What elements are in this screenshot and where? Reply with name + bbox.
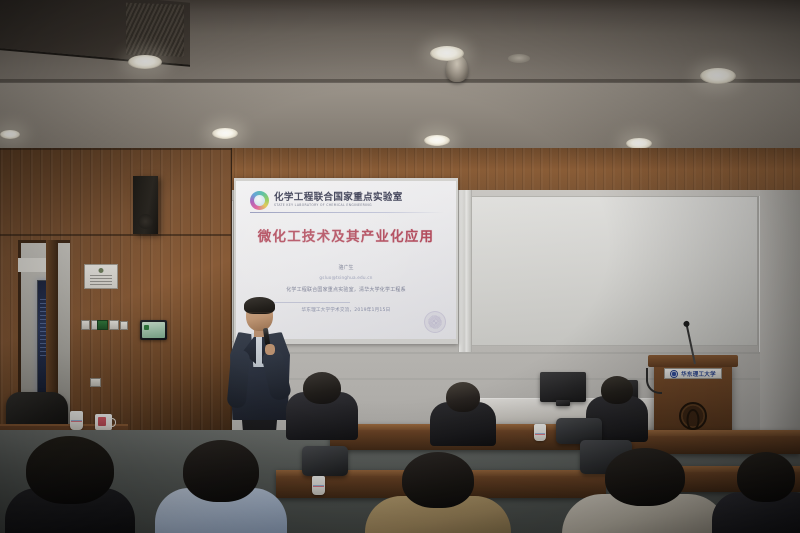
downlight-icon (212, 128, 238, 139)
attendee (570, 448, 720, 533)
handheld-microphone-icon (263, 328, 270, 346)
paper-cup (312, 476, 325, 495)
ceramic-mug (95, 414, 112, 430)
downlight-icon (0, 130, 20, 139)
slide-header: 化学工程联合国家重点实验室 STATE KEY LABORATORY OF CH… (250, 189, 446, 211)
slide-divider (250, 212, 444, 213)
attendee (286, 372, 358, 434)
panel-seam (0, 234, 231, 236)
attendee-head (737, 452, 795, 502)
downlight-icon (700, 68, 736, 84)
university-crest-icon (670, 370, 678, 378)
whiteboard-divider (458, 190, 472, 352)
touch-panel-screen[interactable] (142, 322, 165, 338)
light-switch[interactable] (81, 320, 90, 330)
downlight-icon (128, 55, 162, 69)
mug-graphic (98, 417, 106, 426)
slide-affiliation: 化学工程联合国家重点实验室，清华大学化学工程系 (236, 288, 456, 294)
laboratory-logo-icon (250, 191, 269, 210)
attendee (430, 382, 496, 438)
corridor-soffit (18, 258, 48, 272)
light-switch[interactable] (120, 321, 128, 330)
presenter-glasses-icon (248, 312, 271, 317)
ceiling-step (0, 82, 800, 154)
plaque-text-lines (90, 275, 112, 286)
slide-speaker-name: 骆广生 (236, 266, 456, 272)
lectern-nameplate: 华东理工大学 (664, 368, 722, 379)
monitor-stand (556, 400, 570, 406)
power-outlet (90, 378, 101, 387)
attendee-head (303, 372, 341, 404)
paper-cup (70, 411, 83, 430)
attendee-head (605, 448, 685, 506)
wall-plaque (84, 264, 118, 289)
hvac-grill-icon (126, 3, 184, 57)
attendee (156, 440, 286, 533)
attendee (718, 452, 800, 533)
attendee-head (446, 382, 480, 412)
downlight-icon (430, 46, 464, 61)
lectern-emblem-icon (679, 402, 707, 430)
wall-loudspeaker (133, 176, 158, 234)
university-seal-watermark-icon (424, 311, 446, 333)
slide-title: 微化工技术及其产业化应用 (236, 225, 456, 245)
av-control-touch-panel[interactable] (140, 320, 167, 340)
chair (302, 446, 348, 476)
panel-seam (0, 148, 231, 150)
lectern-nameplate-text: 华东理工大学 (681, 370, 716, 378)
downlight-icon (508, 54, 530, 63)
slide-speaker-email: gsluo@tsinghua.edu.cn (236, 276, 456, 281)
right-wall-column (760, 190, 800, 440)
ceiling (0, 0, 800, 152)
laboratory-name-cn: 化学工程联合国家重点实验室 (274, 193, 403, 203)
hvac-unit (0, 0, 190, 67)
laboratory-name-en: STATE KEY LABORATORY OF CHEMICAL ENGINEE… (274, 204, 403, 207)
light-switch[interactable] (109, 320, 119, 330)
lecture-hall-photo: 化学工程联合国家重点实验室 STATE KEY LABORATORY OF CH… (0, 0, 800, 533)
attendee-head (601, 376, 633, 404)
attendee (372, 452, 504, 533)
attendee-head (183, 440, 259, 502)
attendee-head (402, 452, 474, 508)
presenter-hand (265, 344, 275, 355)
downlight-icon (424, 135, 450, 146)
whiteboard-panel (470, 196, 758, 346)
emergency-switch[interactable] (97, 320, 108, 330)
plaque-crest-icon (99, 268, 104, 273)
paper-cup (534, 424, 546, 441)
attendee-head (26, 436, 114, 504)
attendee (10, 436, 130, 533)
monitor (540, 372, 586, 402)
